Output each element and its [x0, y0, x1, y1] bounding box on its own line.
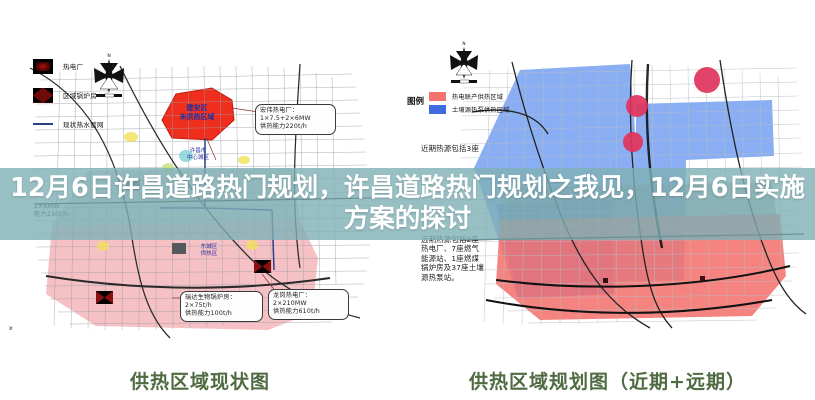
right-map-caption: 供热区域规划图（近期+远期）: [400, 367, 815, 394]
pipe-line-icon: [33, 123, 53, 125]
left-map-legend: 热电厂 区域锅炉房 现状热水管网: [33, 56, 104, 143]
screenshot-root: N 热电厂 区域锅炉房: [0, 0, 815, 400]
district-boiler-room-icon: [33, 88, 53, 103]
legend-item-district-boiler-room: 区域锅炉房: [33, 85, 104, 105]
callout-ruida-boiler: 瑞达生物锅炉房： 2×75t/h 供热能力100t/h: [180, 291, 263, 322]
legend-item-cogeneration-area: 热电联产供热区域: [429, 92, 510, 101]
legend-label: 现状热水管网: [63, 119, 104, 129]
cogeneration-swatch-icon: [429, 92, 446, 101]
callout-longgang-plant: 龙岗热电厂： 2×210MW 供热能力610t/h: [268, 289, 349, 320]
jianan-area-label: 建安区 未供热区域: [162, 104, 232, 122]
thermal-power-plant-icon: [33, 59, 53, 74]
compass-icon: N: [448, 38, 480, 84]
near-term-heat-source-note: 近期热源包括3座: [421, 144, 533, 153]
legend-label: 热电联产供热区域: [452, 92, 503, 101]
legend-item-thermal-power-plant: 热电厂: [33, 56, 104, 76]
left-map-caption: 供热区域现状图: [0, 367, 400, 394]
svg-text:N: N: [462, 41, 465, 46]
ground-source-swatch-icon: [429, 105, 446, 114]
legend-label: 土壤源热泵供热区域: [452, 105, 510, 114]
central-district-label: 许昌市 中心城区: [176, 148, 220, 163]
overlay-title-text: 12月6日许昌道路热门规划，许昌道路热门规划之我见，12月6日实施方案的探讨: [0, 173, 815, 234]
callout-hongwei-plant: 宏伟热电厂： 1×7.5+2×6MW 供热能力220t/h: [255, 104, 336, 135]
long-term-heat-source-note: 远期热源包括2座 热电厂、7座燃气 能源站、1座燃煤 锅炉房及37座土壤 源热泵…: [421, 235, 517, 282]
svg-text:N: N: [107, 53, 110, 59]
legend-item-ground-source-area: 土壤源热泵供热区域: [429, 105, 510, 114]
title-overlay-banner: 12月6日许昌道路热门规划，许昌道路热门规划之我见，12月6日实施方案的探讨: [0, 168, 815, 240]
legend-item-existing-pipe: 现状热水管网: [33, 114, 104, 134]
dongcheng-label: 东城区 供热区: [186, 244, 232, 259]
legend-label: 热电厂: [63, 61, 83, 71]
axis-mark: x: [9, 325, 13, 332]
right-map-legend: 图例 热电联产供热区域 土壤源热泵供热区域: [407, 92, 510, 114]
legend-label: 区域锅炉房: [63, 90, 97, 100]
legend-title: 图例: [407, 98, 424, 108]
